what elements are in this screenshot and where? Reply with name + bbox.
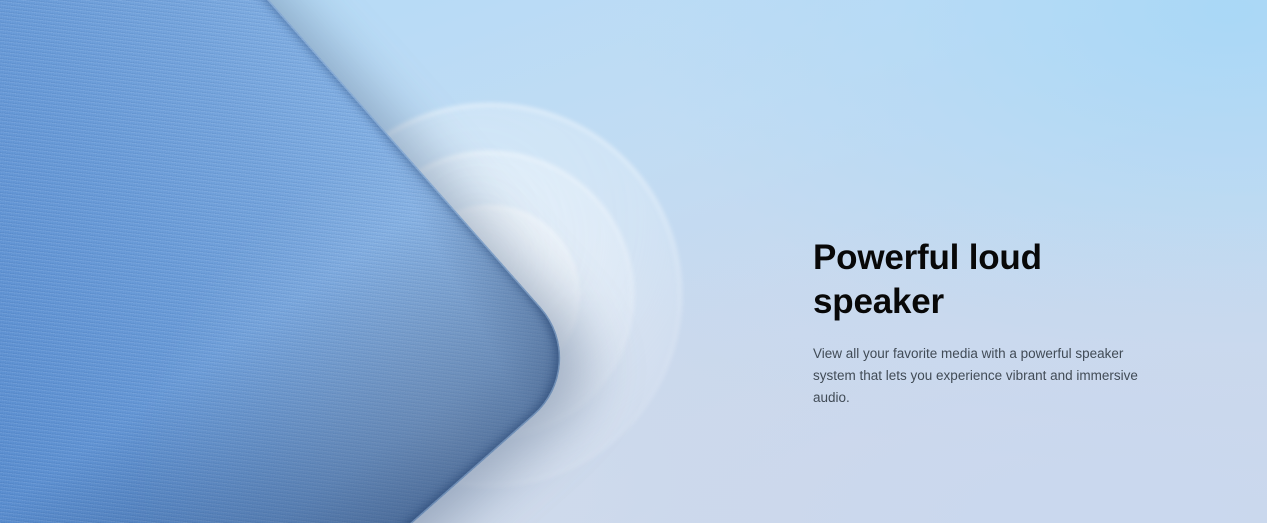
- feature-copy-block: Powerful loud speaker View all your favo…: [813, 236, 1165, 409]
- feature-heading: Powerful loud speaker: [813, 236, 1165, 324]
- promo-banner: Powerful loud speaker View all your favo…: [0, 0, 1267, 523]
- feature-description: View all your favorite media with a powe…: [813, 343, 1153, 409]
